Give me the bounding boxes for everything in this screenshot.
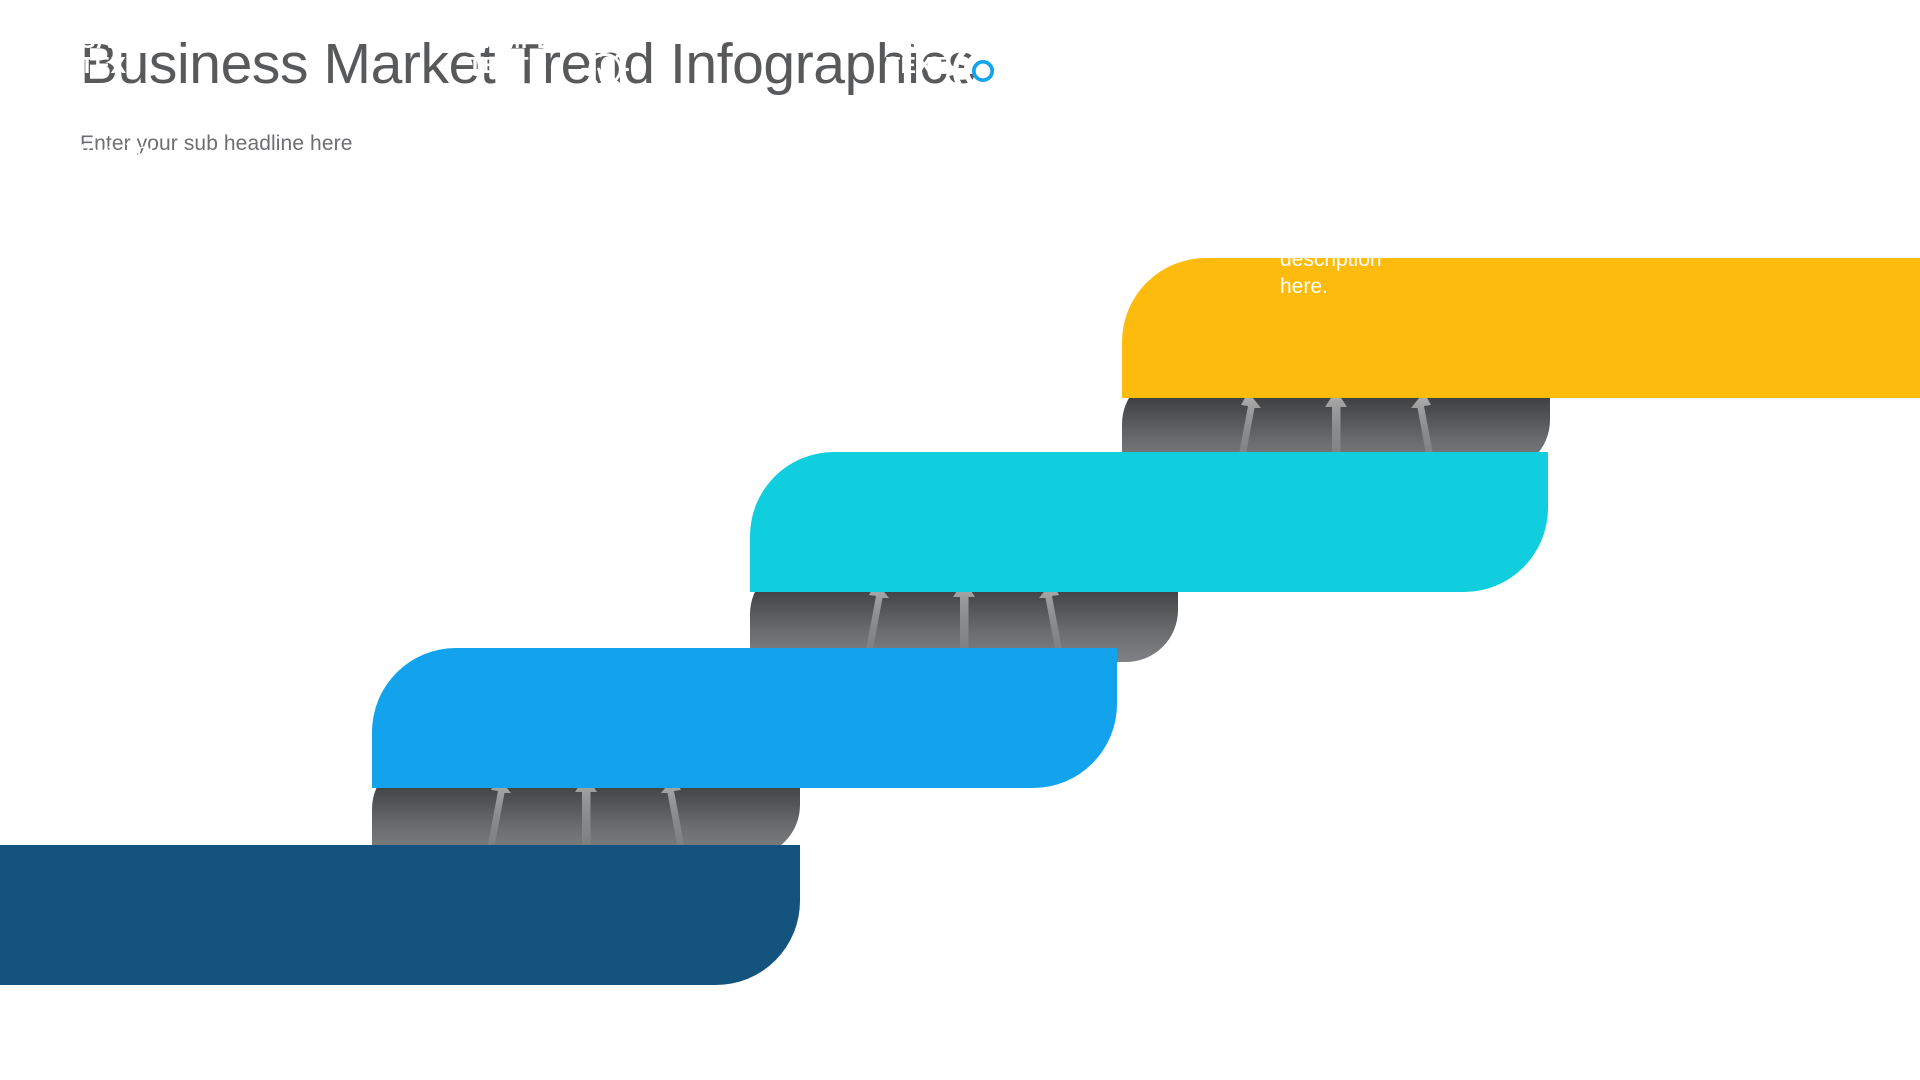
- step-2-description: This is a sample text. You simply add yo…: [468, 86, 570, 301]
- step-2-title: SAMPLE TEXT: [468, 28, 570, 79]
- step-1-text-block: SAMPLE TEXT This is a sample text. You s…: [80, 28, 182, 301]
- step-3-title: SAMPLE TEXT: [886, 28, 988, 79]
- presenter-checklist-icon: [1755, 22, 1865, 118]
- step-bar-2[interactable]: [372, 648, 1117, 788]
- step-bar-4-fill: [1122, 258, 1920, 398]
- step-1-description: This is a sample text. You simply add yo…: [80, 86, 182, 301]
- step-2-text-block: SAMPLE TEXT This is a sample text. You s…: [468, 28, 570, 301]
- step-3-text-block: SAMPLE TEXT This is a sample text. You s…: [886, 28, 988, 301]
- step-4-description: This is a sample text. You simply add yo…: [1280, 86, 1382, 301]
- step-bar-3[interactable]: [750, 452, 1548, 592]
- step-bar-1[interactable]: [0, 845, 800, 985]
- step-bar-1-fill: [0, 845, 800, 985]
- step-bar-4[interactable]: [1122, 258, 1920, 398]
- infographic-stairs-diagram: SAMPLE TEXT This is a sample text. You s…: [0, 0, 1920, 1080]
- step-1-title: SAMPLE TEXT: [80, 28, 182, 79]
- step-4-title: SAMPLE TEXT: [1280, 28, 1382, 79]
- step-4-text-block: SAMPLE TEXT This is a sample text. You s…: [1280, 28, 1382, 301]
- step-bar-3-fill: [750, 452, 1548, 592]
- step-3-description: This is a sample text. You simply add yo…: [886, 86, 988, 301]
- lightbulb-icon: [570, 36, 640, 106]
- step-bar-2-fill: [372, 648, 1117, 788]
